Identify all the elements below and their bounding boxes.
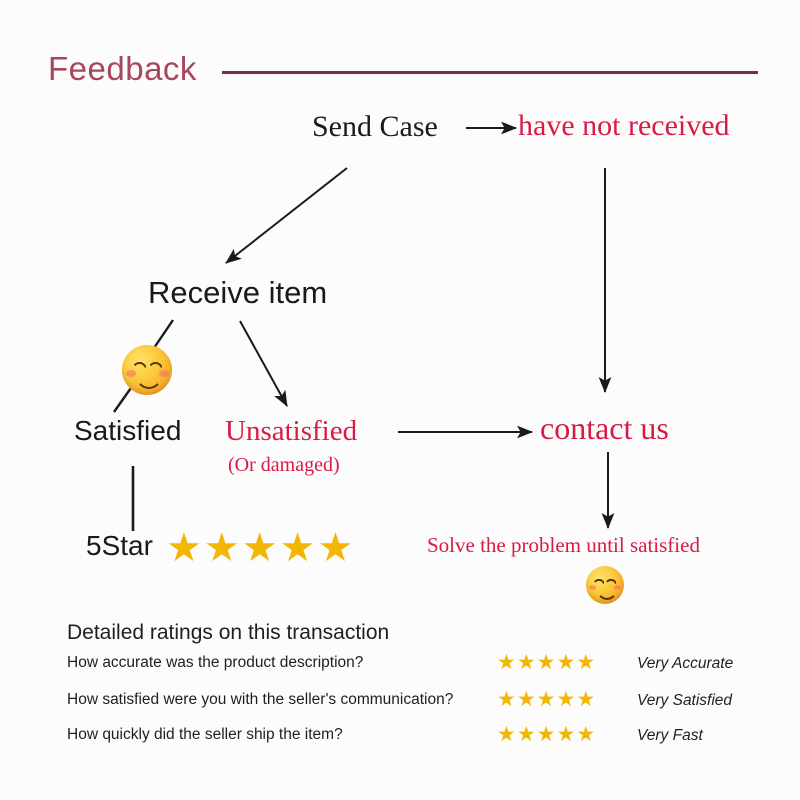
rating-label: Very Accurate (637, 655, 733, 673)
flow-node-satisfied: Satisfied (74, 416, 181, 445)
smiley-mouth (135, 370, 163, 389)
star-icon: ★ (556, 652, 576, 673)
flow-node-receive-item: Receive item (148, 277, 327, 310)
star-icon: ★ (576, 689, 596, 710)
flow-node-have-not-received: have not received (518, 110, 730, 142)
star-icon: ★ (517, 689, 537, 710)
rating-stars: ★★★★★ (497, 723, 596, 747)
star-icon: ★ (517, 652, 537, 673)
rating-question: How satisfied were you with the seller's… (67, 691, 453, 709)
star-icon: ★ (556, 724, 576, 745)
smiley-face-resolved-icon (586, 566, 624, 604)
star-icon: ★ (497, 652, 517, 673)
star-icon: ★ (166, 528, 204, 568)
rating-stars: ★★★★★ (497, 688, 596, 712)
detailed-ratings-title: Detailed ratings on this transaction (67, 621, 389, 645)
star-icon: ★ (556, 689, 576, 710)
flow-node-solve-until-satisfied: Solve the problem until satisfied (427, 534, 700, 556)
rating-question: How quickly did the seller ship the item… (67, 726, 343, 744)
star-icon: ★ (204, 528, 242, 568)
star-icon: ★ (242, 528, 280, 568)
star-icon: ★ (497, 689, 517, 710)
star-icon: ★ (280, 528, 318, 568)
rating-stars: ★★★★★ (497, 651, 596, 675)
smiley-face-satisfied-icon (122, 345, 172, 395)
flow-node-or-damaged: (Or damaged) (228, 455, 340, 476)
rating-row: How accurate was the product description… (67, 654, 767, 680)
five-star-rating: ★★★★★ (166, 526, 355, 571)
feedback-infographic: Feedback Send Case have not received Rec… (0, 0, 800, 800)
star-icon: ★ (317, 528, 355, 568)
smiley-cheek-left (126, 370, 136, 377)
flow-node-contact-us: contact us (540, 412, 669, 446)
flow-node-5star-label: 5Star (86, 531, 153, 560)
flow-node-unsatisfied: Unsatisfied (225, 416, 357, 446)
smiley-mouth (596, 585, 618, 600)
star-icon: ★ (517, 724, 537, 745)
rating-row: How quickly did the seller ship the item… (67, 726, 767, 752)
star-icon: ★ (576, 652, 596, 673)
star-icon: ★ (576, 724, 596, 745)
star-icon: ★ (537, 724, 557, 745)
flow-node-send-case: Send Case (312, 111, 438, 143)
star-icon: ★ (537, 652, 557, 673)
star-icon: ★ (537, 689, 557, 710)
rating-label: Very Satisfied (637, 692, 732, 710)
rating-question: How accurate was the product description… (67, 654, 363, 672)
star-icon: ★ (497, 724, 517, 745)
rating-row: How satisfied were you with the seller's… (67, 691, 767, 717)
rating-label: Very Fast (637, 727, 703, 745)
